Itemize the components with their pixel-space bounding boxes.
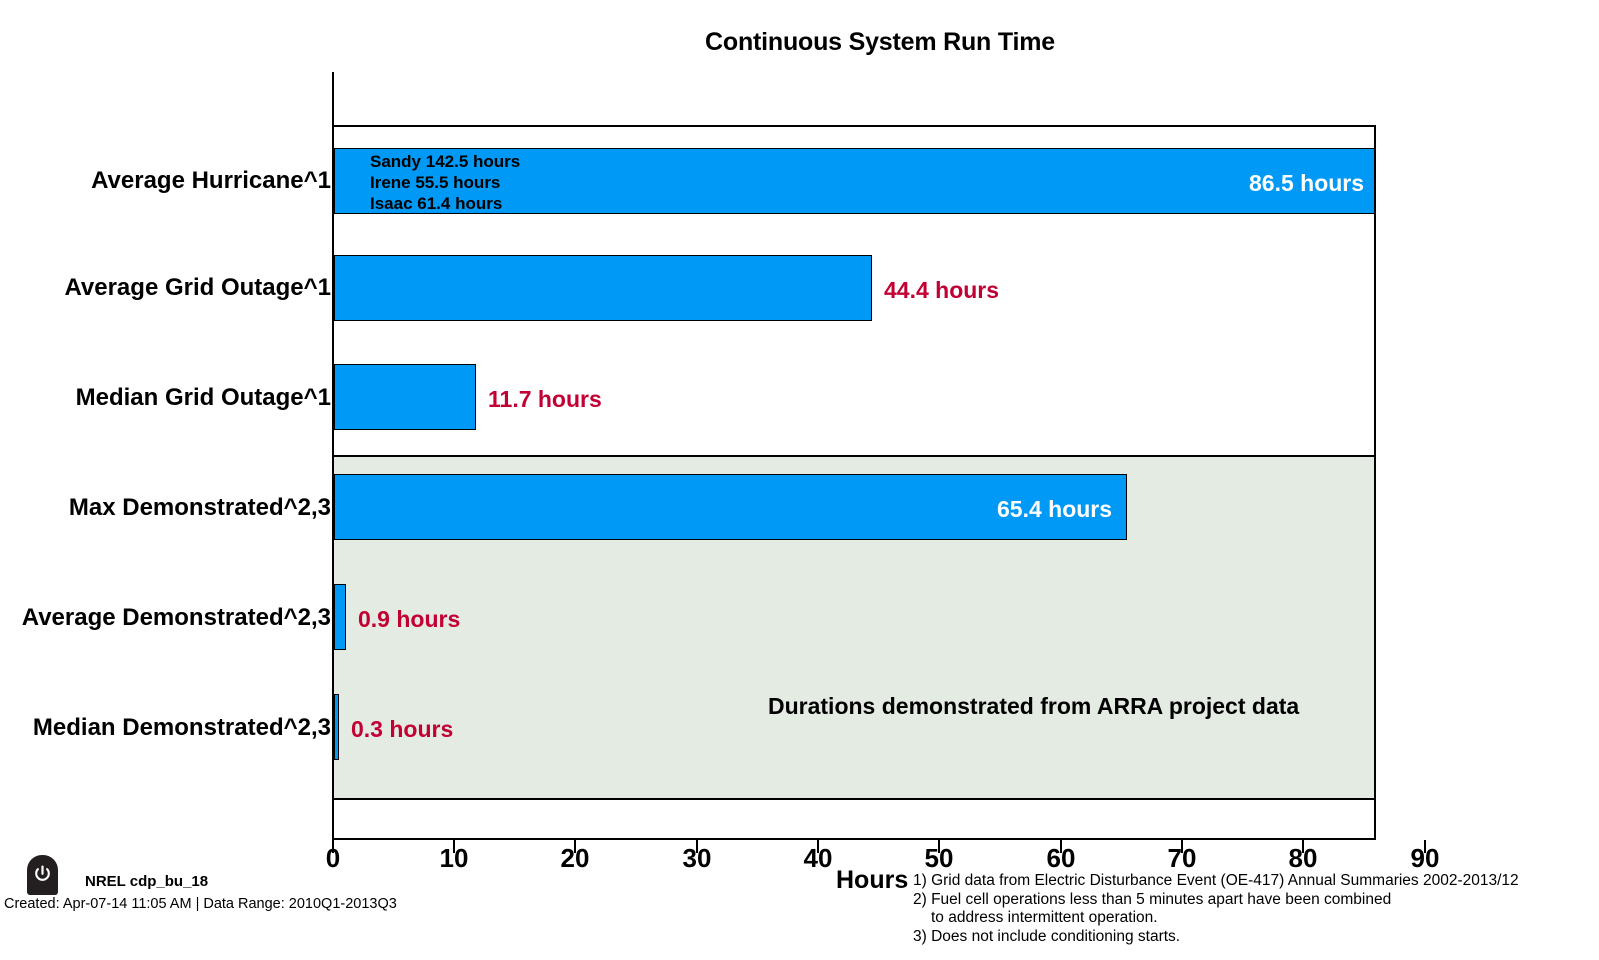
y-axis-label-average-grid-outage: Average Grid Outage^1 (64, 274, 331, 302)
x-axis-ticklabel-30: 30 (657, 843, 737, 874)
x-axis-ticklabel-90: 90 (1385, 843, 1465, 874)
footnote-3: 3) Does not include conditioning starts. (913, 928, 1519, 947)
y-axis-label-average-demonstrated: Average Demonstrated^2,3 (22, 604, 331, 632)
x-axis-title: Hours (836, 866, 908, 895)
x-axis-ticklabel-60: 60 (1021, 843, 1101, 874)
x-axis-ticklabel-0: 0 (293, 843, 373, 874)
bar-value-max-demonstrated: 65.4 hours (997, 496, 1112, 523)
bar-value-average-demonstrated: 0.9 hours (358, 606, 460, 633)
y-axis-label-max-demonstrated: Max Demonstrated^2,3 (69, 494, 331, 522)
nrel-logo-icon (27, 855, 58, 895)
x-axis-ticklabel-50: 50 (899, 843, 979, 874)
y-axis-line (332, 72, 334, 127)
bar-median-demonstrated[interactable] (334, 694, 339, 760)
hurricane-sandy-label: Sandy 142.5 hours (370, 151, 520, 172)
hurricane-irene-label: Irene 55.5 hours (370, 172, 520, 193)
y-axis-label-average-hurricane: Average Hurricane^1 (91, 167, 331, 195)
x-axis-ticklabel-70: 70 (1142, 843, 1222, 874)
bar-median-grid-outage[interactable] (334, 364, 476, 430)
bar-average-grid-outage[interactable] (334, 255, 872, 321)
footnote-2-continued: to address intermittent operation. (913, 909, 1519, 928)
footnotes-block: 1) Grid data from Electric Disturbance E… (913, 872, 1519, 946)
bar-value-median-demonstrated: 0.3 hours (351, 716, 453, 743)
bar-average-demonstrated[interactable] (334, 584, 346, 650)
y-axis-label-median-demonstrated: Median Demonstrated^2,3 (33, 714, 331, 742)
hurricane-annotations: Sandy 142.5 hours Irene 55.5 hours Isaac… (370, 151, 520, 214)
power-symbol-icon (33, 865, 52, 884)
x-axis-ticklabel-80: 80 (1263, 843, 1343, 874)
bar-value-average-hurricane: 86.5 hours (1249, 170, 1364, 197)
chart-title: Continuous System Run Time (0, 28, 1599, 57)
x-axis-ticklabel-20: 20 (535, 843, 615, 874)
hurricane-isaac-label: Isaac 61.4 hours (370, 193, 520, 214)
bar-value-median-grid-outage: 11.7 hours (488, 386, 602, 413)
footnote-1: 1) Grid data from Electric Disturbance E… (913, 872, 1519, 891)
bar-value-average-grid-outage: 44.4 hours (884, 277, 999, 304)
footnote-2: 2) Fuel cell operations less than 5 minu… (913, 891, 1519, 910)
arra-region-note: Durations demonstrated from ARRA project… (768, 693, 1299, 720)
plot-area: Durations demonstrated from ARRA project… (332, 125, 1376, 840)
x-axis-ticklabel-10: 10 (414, 843, 494, 874)
credit-chart-id: NREL cdp_bu_18 (85, 873, 208, 890)
credit-created-line: Created: Apr-07-14 11:05 AM | Data Range… (4, 896, 397, 912)
y-axis-label-median-grid-outage: Median Grid Outage^1 (76, 384, 331, 412)
